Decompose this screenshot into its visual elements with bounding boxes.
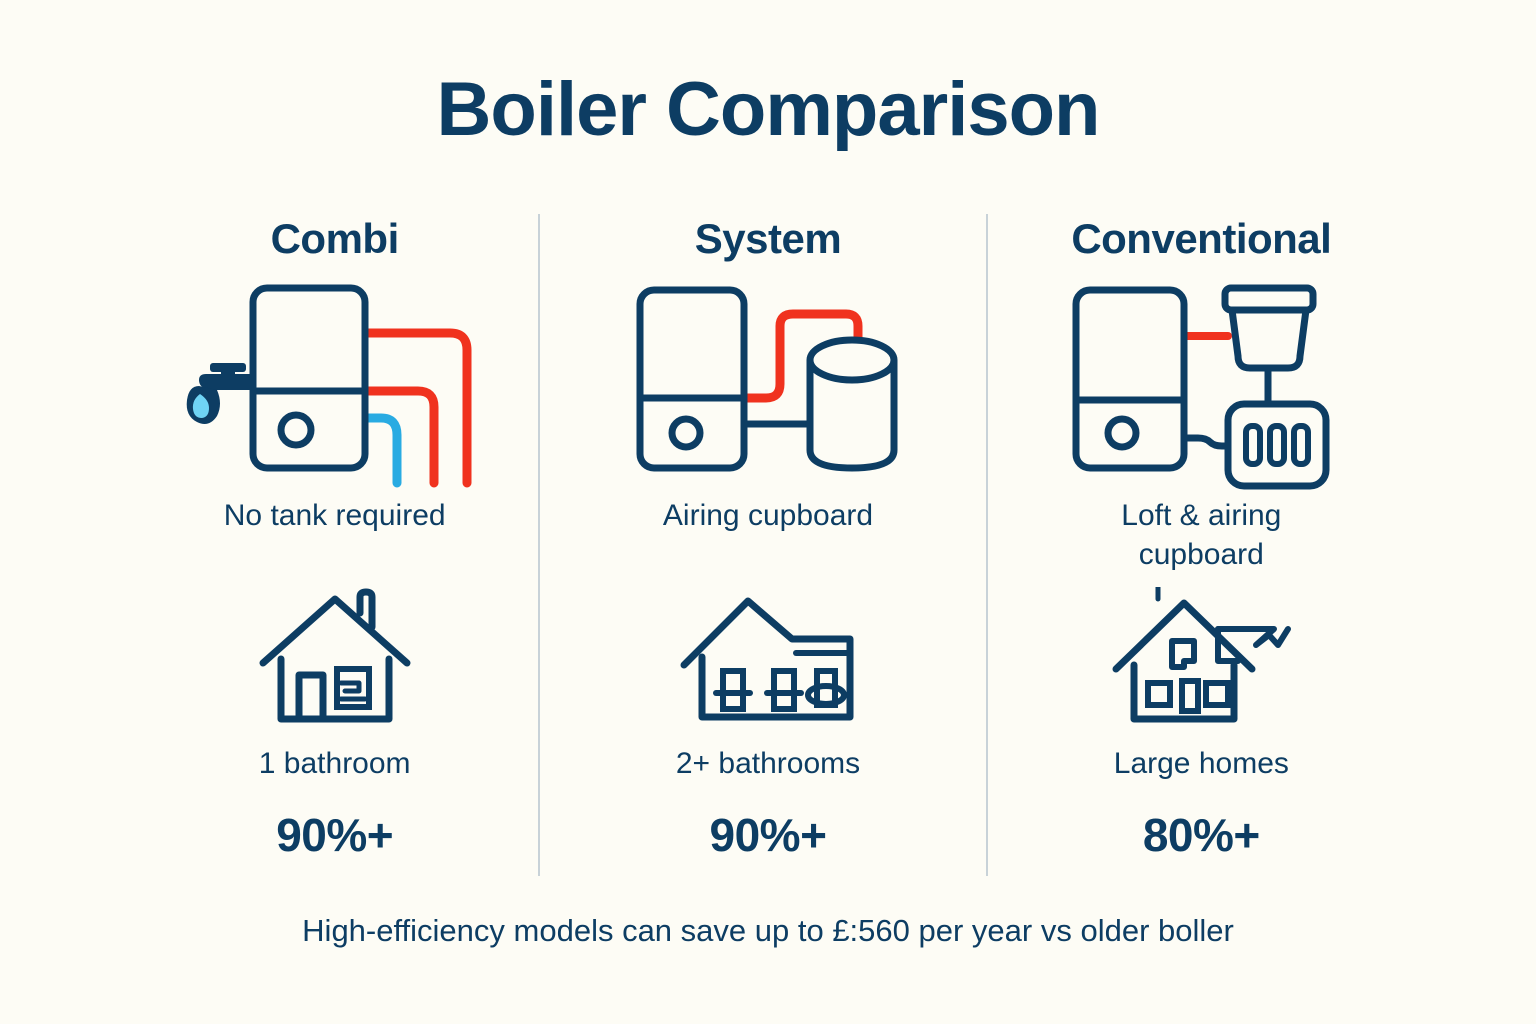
page-title: Boiler Comparison bbox=[0, 72, 1536, 148]
efficiency-conventional: 80%+ bbox=[1143, 808, 1260, 862]
column-heading-conventional: Conventional bbox=[1071, 218, 1331, 260]
column-heading-system: System bbox=[695, 218, 841, 260]
location-label-conventional-line2: cupboard bbox=[1121, 535, 1281, 574]
location-label-conventional-line1: Loft & airing bbox=[1121, 496, 1281, 535]
column-combi: Combi bbox=[118, 200, 551, 900]
column-heading-combi: Combi bbox=[271, 218, 399, 260]
infographic-canvas: Boiler Comparison Combi bbox=[0, 0, 1536, 1024]
system-boiler-icon bbox=[608, 274, 928, 496]
suitability-label-conventional: Large homes bbox=[1114, 746, 1289, 782]
column-system: System Airing cupboard bbox=[551, 200, 984, 900]
efficiency-combi: 90%+ bbox=[276, 808, 393, 862]
efficiency-system: 90%+ bbox=[710, 808, 827, 862]
small-house-icon bbox=[255, 582, 415, 732]
location-label-system: Airing cupboard bbox=[663, 496, 873, 578]
large-house-icon bbox=[1106, 582, 1296, 732]
suitability-label-combi: 1 bathroom bbox=[259, 746, 411, 782]
conventional-boiler-icon bbox=[1056, 274, 1346, 496]
location-label-combi: No tank required bbox=[224, 496, 446, 578]
combi-boiler-icon bbox=[175, 274, 495, 496]
suitability-label-system: 2+ bathrooms bbox=[676, 746, 860, 782]
comparison-columns: Combi bbox=[118, 200, 1418, 900]
footer-note: High-efficiency models can save up to £:… bbox=[0, 912, 1536, 949]
medium-house-icon bbox=[678, 582, 858, 732]
location-label-conventional: Loft & airing cupboard bbox=[1121, 496, 1281, 578]
column-conventional: Conventional bbox=[985, 200, 1418, 900]
